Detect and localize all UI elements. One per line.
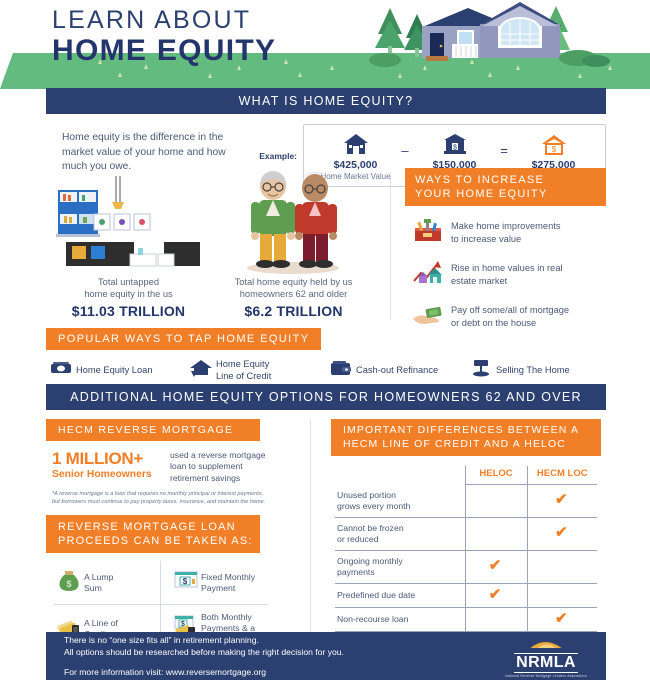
stat-caption-line1: Total home equity held by us — [211, 276, 376, 288]
pine-tree-icon — [375, 8, 405, 57]
row-label-line2: or reduced — [337, 534, 461, 545]
section-stats-and-ways: Total untapped home equity in the us $11… — [46, 168, 606, 332]
check-icon: ✔ — [489, 557, 502, 574]
stat-caption-line1: Total untapped — [46, 276, 211, 288]
label-line1: Selling The Home — [496, 365, 570, 377]
label-line1: Both Monthly — [201, 612, 255, 623]
example-label: Example: — [259, 151, 297, 161]
popular-item-label: Home Equity Loan — [76, 365, 153, 377]
comparison-heading: IMPORTANT DIFFERENCES BETWEEN A HECM LIN… — [331, 419, 601, 456]
svg-text:$: $ — [551, 145, 556, 154]
wallet-icon — [326, 359, 356, 382]
house-growth-chart-icon — [405, 259, 451, 290]
for-sale-sign-icon — [466, 358, 496, 383]
way-item-market-rise: Rise in home values in real estate marke… — [405, 259, 606, 290]
check-icon: ✔ — [555, 524, 568, 541]
house-illustration — [360, 0, 650, 80]
label-line1: A Lump — [84, 572, 113, 583]
proceeds-option-lump-sum: $ A Lump Sum — [54, 561, 161, 605]
living-room-illustration — [46, 168, 211, 276]
cell-heloc — [465, 607, 527, 631]
cell-heloc: ✔ — [465, 583, 527, 607]
row-label: Non-recourse loan — [335, 607, 465, 631]
popular-item-label: Cash-out Refinance — [356, 365, 438, 377]
comparison-heading-line2: HECM LINE OF CREDIT AND A HELOC — [343, 438, 601, 452]
col-header-hecm-loc: HECM LOC — [527, 466, 597, 485]
row-label: Ongoing monthly payments — [335, 550, 465, 583]
section-additional-options: ADDITIONAL HOME EQUITY OPTIONS FOR HOMEO… — [46, 384, 606, 664]
hecm-heading: HECM REVERSE MORTGAGE — [46, 419, 260, 441]
title-line-1: LEARN ABOUT — [52, 6, 276, 34]
way-text: Pay off some/all of mortgage or debt on … — [451, 304, 569, 329]
cell-hecm: ✔ — [527, 485, 597, 518]
footer-line1: There is no “one size fits all” in retir… — [64, 634, 496, 647]
cell-hecm — [527, 550, 597, 583]
label-line2: Line of Credit — [216, 371, 271, 383]
label-line1: Fixed Monthly — [201, 572, 255, 583]
cell-heloc: ✔ — [465, 485, 527, 518]
way-text-line1: Rise in home values in real — [451, 262, 563, 275]
table-row: Predefined due date ✔ — [335, 583, 597, 607]
detail-line3: retirement savings — [170, 473, 266, 484]
popular-item-heloc: Home Equity Line of Credit — [186, 358, 326, 383]
what-is-description: Home equity is the difference in the mar… — [46, 124, 251, 175]
house-navy-icon — [314, 131, 397, 157]
row-label-line2: grows every month — [337, 501, 461, 512]
label-line2: Payment — [201, 583, 255, 594]
section-ways-to-increase: WAYS TO INCREASE YOUR HOME EQUITY — [405, 168, 606, 332]
nrmla-wordmark: NRMLA — [514, 653, 578, 673]
popular-item-selling-the-home: Selling The Home — [466, 358, 606, 383]
cell-hecm — [527, 583, 597, 607]
proceeds-option-label: A Lump Sum — [84, 572, 113, 594]
stat-caption-line2: home equity in the us — [46, 288, 211, 300]
footer-url[interactable]: For more information visit: www.reversem… — [64, 666, 496, 679]
table-row: Cannot be frozen or reduced ✔ — [335, 517, 597, 550]
popular-item-home-equity-loan: Home Equity Loan — [46, 358, 186, 383]
label-line2: Sum — [84, 583, 113, 594]
detail-line1: used a reverse mortgage — [170, 450, 266, 461]
popular-item-label: Selling The Home — [496, 365, 570, 377]
label-line1: A Line of — [84, 618, 118, 629]
popular-ways-heading: POPULAR WAYS TO TAP HOME EQUITY — [46, 328, 321, 350]
reverse-mortgage-disclaimer: *A reverse mortgage is a loan that requi… — [46, 491, 272, 506]
stat-untapped-equity: Total untapped home equity in the us $11… — [46, 168, 211, 332]
proceeds-heading: REVERSE MORTGAGE LOAN PROCEEDS CAN BE TA… — [46, 515, 260, 553]
detail-line2: loan to supplement — [170, 461, 266, 472]
infographic-page: LEARN ABOUT HOME EQUITY — [0, 0, 650, 691]
way-text-line2: to increase value — [451, 233, 561, 246]
ways-heading: WAYS TO INCREASE YOUR HOME EQUITY — [405, 168, 606, 206]
svg-text:$: $ — [66, 579, 71, 589]
operator-equals: = — [496, 143, 512, 170]
popular-item-cash-out-refinance: Cash-out Refinance — [326, 358, 466, 383]
vertical-divider — [390, 172, 391, 320]
proceeds-option-fixed-monthly: $ Fixed Monthly Payment — [161, 561, 268, 605]
check-icon: ✔ — [555, 610, 568, 627]
sunrise-icon — [511, 637, 581, 648]
row-label: Predefined due date — [335, 583, 465, 607]
bank-navy-icon: $ — [413, 131, 496, 157]
stat-caption-line2: homeowners 62 and older — [211, 288, 376, 300]
col-header-blank — [335, 466, 465, 485]
additional-bar-title: ADDITIONAL HOME EQUITY OPTIONS FOR HOMEO… — [46, 384, 606, 410]
svg-text:$: $ — [183, 577, 188, 586]
column-hecm: HECM REVERSE MORTGAGE 1 MILLION+ Senior … — [46, 419, 304, 664]
stat-value: $6.2 TRILLION — [211, 303, 376, 319]
cash-stack-icon — [46, 360, 76, 381]
footer-line2: All options should be researched before … — [64, 646, 496, 659]
ways-heading-line2: YOUR HOME EQUITY — [415, 187, 606, 201]
popular-item-label: Home Equity Line of Credit — [216, 359, 271, 382]
row-label-line1: Cannot be frozen — [337, 523, 461, 534]
stat-value: $11.03 TRILLION — [46, 303, 211, 319]
stats-group: Total untapped home equity in the us $11… — [46, 168, 376, 332]
way-text: Make home improvements to increase value — [451, 220, 561, 245]
row-label-line2: payments — [337, 567, 461, 578]
proceeds-option-label: Fixed Monthly Payment — [201, 572, 255, 594]
way-text: Rise in home values in real estate marke… — [451, 262, 563, 287]
cell-heloc: ✔ — [465, 550, 527, 583]
million-subtitle: Senior Homeowners — [52, 468, 170, 481]
million-detail: used a reverse mortgage loan to suppleme… — [170, 449, 266, 484]
page-title: LEARN ABOUT HOME EQUITY — [52, 6, 276, 67]
money-bag-icon: $ — [54, 568, 84, 597]
cell-hecm: ✔ — [527, 517, 597, 550]
table-row: Ongoing monthly payments ✔ — [335, 550, 597, 583]
million-stat: 1 MILLION+ Senior Homeowners used a reve… — [46, 449, 304, 484]
title-line-2: HOME EQUITY — [52, 34, 276, 67]
col-header-heloc: HELOC — [465, 466, 527, 485]
label-line1: Home Equity — [216, 359, 271, 371]
label-line1: Cash-out Refinance — [356, 365, 438, 377]
comparison-heading-line1: IMPORTANT DIFFERENCES BETWEEN A — [343, 424, 601, 438]
cell-heloc — [465, 517, 527, 550]
house-arrow-icon — [186, 358, 216, 383]
way-text-line1: Make home improvements — [451, 220, 561, 233]
cell-hecm: ✔ — [527, 607, 597, 631]
way-text-line1: Pay off some/all of mortgage — [451, 304, 569, 317]
proceeds-heading-line1: REVERSE MORTGAGE LOAN — [58, 520, 260, 534]
table-header-row: HELOC HECM LOC — [335, 466, 597, 485]
header: LEARN ABOUT HOME EQUITY — [0, 0, 650, 95]
proceeds-heading-line2: PROCEEDS CAN BE TAKEN AS: — [58, 534, 260, 548]
check-dollar-icon: $ — [171, 570, 201, 595]
row-label-line1: Ongoing monthly — [337, 556, 461, 567]
check-icon: ✔ — [489, 586, 502, 603]
table-row: Unused portion grows every month ✔ ✔ — [335, 485, 597, 518]
svg-text:$: $ — [453, 145, 457, 152]
nrmla-tagline: National Reverse Mortgage Lenders Associ… — [496, 674, 596, 678]
row-label-line1: Predefined due date — [337, 590, 461, 601]
million-number: 1 MILLION+ — [52, 449, 170, 468]
row-label: Unused portion grows every month — [335, 485, 465, 518]
check-icon: ✔ — [555, 491, 568, 508]
column-comparison: IMPORTANT DIFFERENCES BETWEEN A HECM LIN… — [311, 419, 599, 664]
row-label-line1: Unused portion — [337, 490, 461, 501]
way-text-line2: estate market — [451, 275, 563, 288]
stat-senior-equity: Total home equity held by us homeowners … — [211, 168, 376, 332]
what-is-bar-title: WHAT IS HOME EQUITY? — [46, 88, 606, 114]
operator-minus: – — [397, 143, 413, 170]
ways-heading-line1: WAYS TO INCREASE — [415, 173, 606, 187]
house-orange-icon: $ — [512, 131, 595, 157]
row-label: Cannot be frozen or reduced — [335, 517, 465, 550]
label-line1: Home Equity Loan — [76, 365, 153, 377]
footer-text: There is no “one size fits all” in retir… — [46, 634, 496, 679]
row-label-line1: Non-recourse loan — [337, 614, 461, 625]
footer: There is no “one size fits all” in retir… — [46, 632, 606, 680]
nrmla-logo: NRMLA National Reverse Mortgage Lenders … — [496, 635, 606, 678]
toolbox-icon — [405, 217, 451, 248]
senior-couple-illustration — [211, 168, 376, 276]
way-item-improvements: Make home improvements to increase value — [405, 217, 606, 248]
table-row: Non-recourse loan ✔ — [335, 607, 597, 631]
